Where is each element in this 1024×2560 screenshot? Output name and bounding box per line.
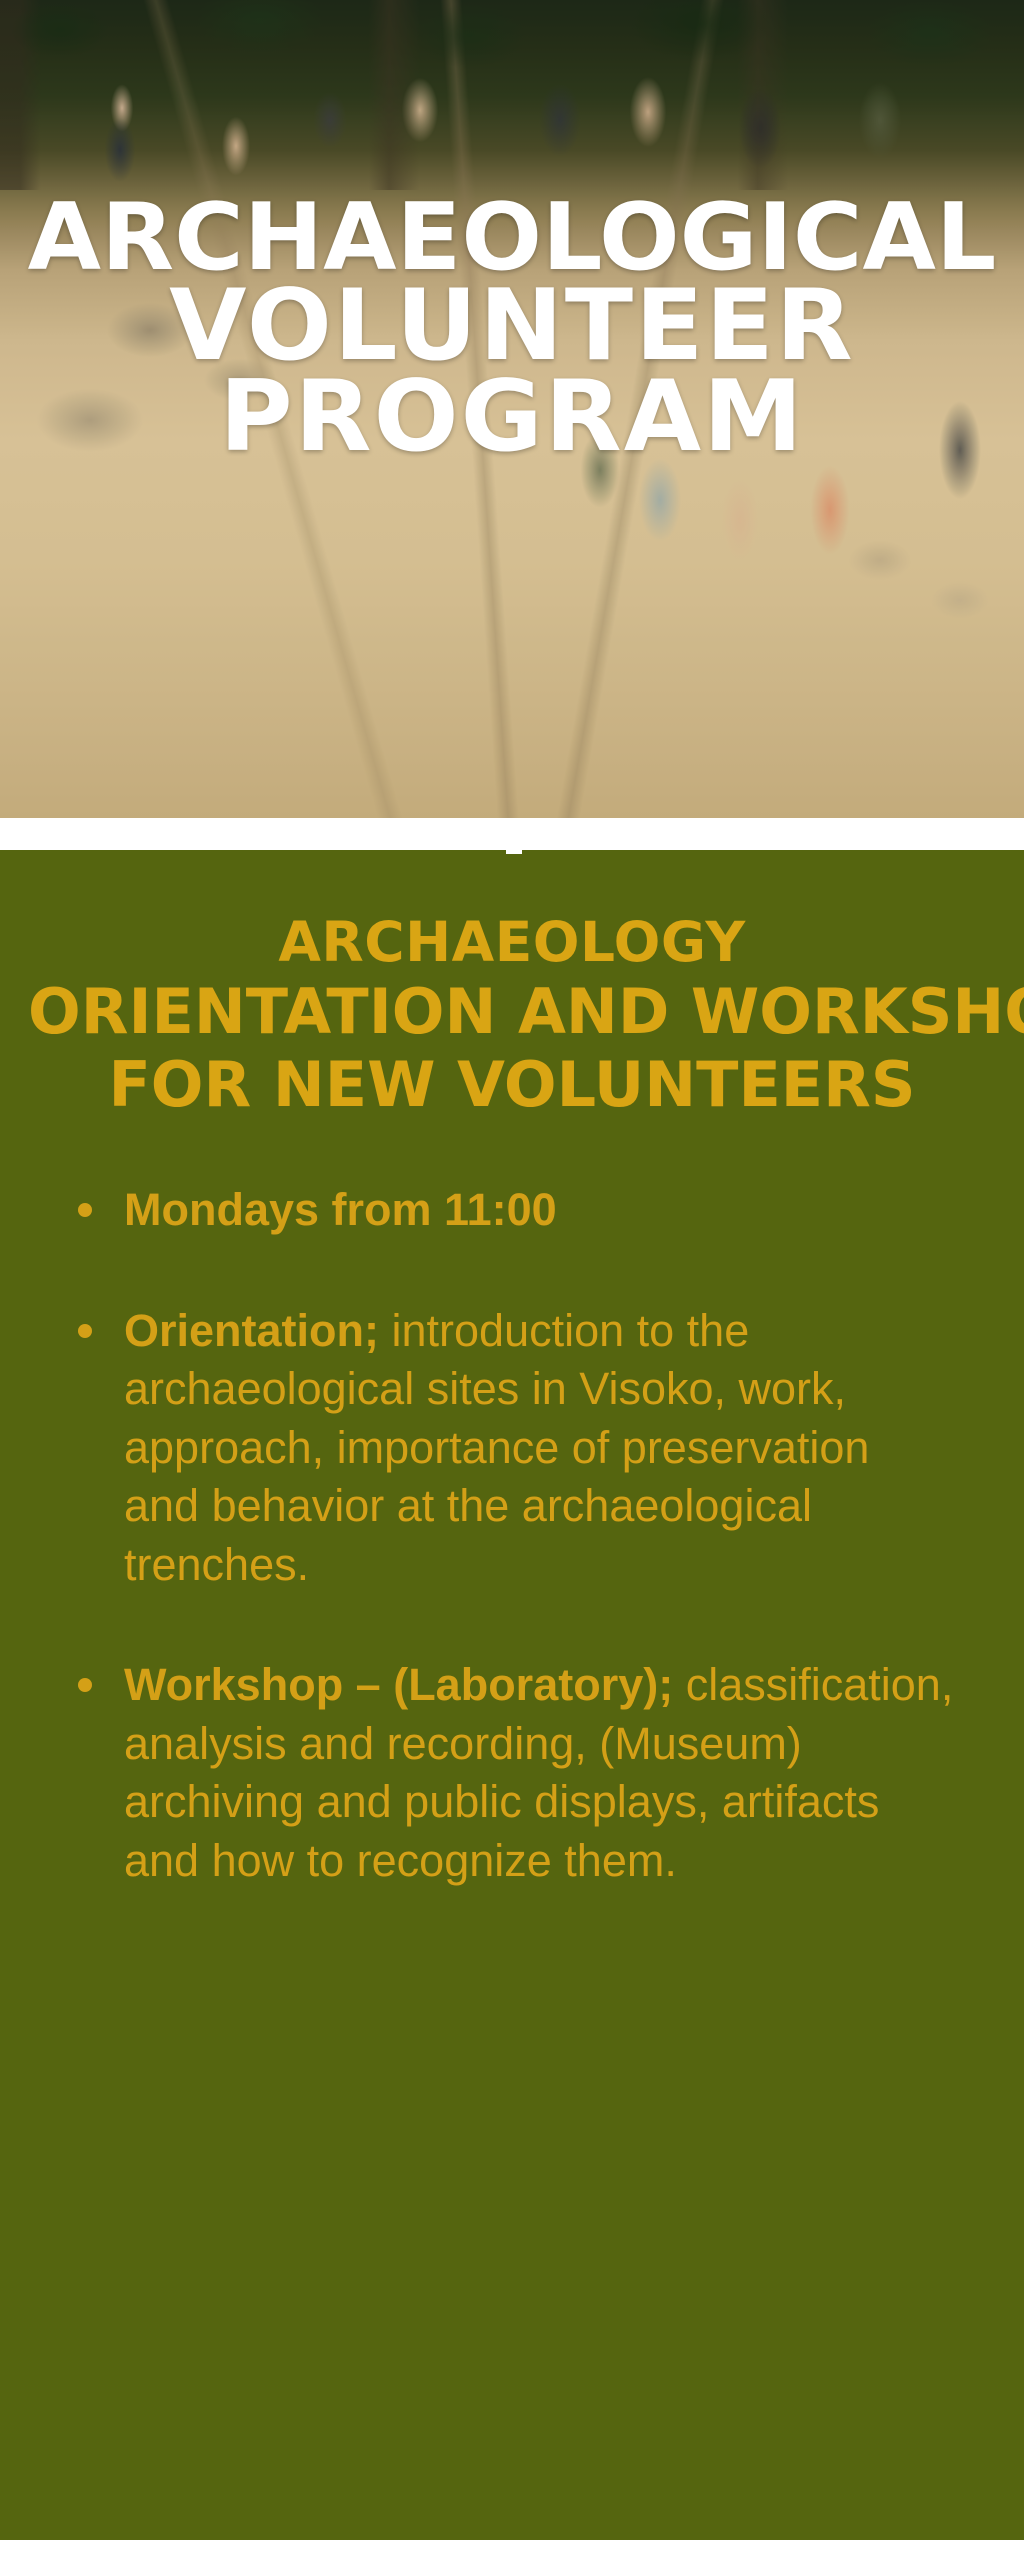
hero-section: ARCHAEOLOGICAL VOLUNTEER PROGRAM	[0, 0, 1024, 818]
info-panel: ARCHAEOLOGY ORIENTATION AND WORKSHOP FOR…	[0, 850, 1024, 2540]
hero-title-line-2: VOLUNTEER	[0, 281, 1024, 372]
bullet-lead: Mondays from 11:00	[124, 1184, 557, 1235]
panel-top-notch	[506, 844, 522, 854]
bullet-lead: Orientation;	[124, 1305, 379, 1356]
hero-title: ARCHAEOLOGICAL VOLUNTEER PROGRAM	[0, 194, 1024, 463]
poster-root: ARCHAEOLOGICAL VOLUNTEER PROGRAM ARCHAEO…	[0, 0, 1024, 2560]
panel-title-line-1: ARCHAEOLOGY	[28, 910, 996, 975]
bullet-lead: Workshop – (Laboratory);	[124, 1659, 673, 1710]
panel-title-line-3: FOR NEW VOLUNTEERS	[28, 1048, 996, 1121]
list-item: Orientation; introduction to the archaeo…	[72, 1302, 954, 1595]
list-item: Mondays from 11:00	[72, 1181, 954, 1240]
footer-strip	[0, 2540, 1024, 2560]
panel-title: ARCHAEOLOGY ORIENTATION AND WORKSHOP FOR…	[0, 850, 1024, 1121]
panel-title-line-2: ORIENTATION AND WORKSHOP	[28, 975, 996, 1048]
hero-title-line-3: PROGRAM	[0, 372, 1024, 463]
program-bullet-list: Mondays from 11:00 Orientation; introduc…	[0, 1121, 1024, 1890]
list-item: Workshop – (Laboratory); classification,…	[72, 1656, 954, 1890]
